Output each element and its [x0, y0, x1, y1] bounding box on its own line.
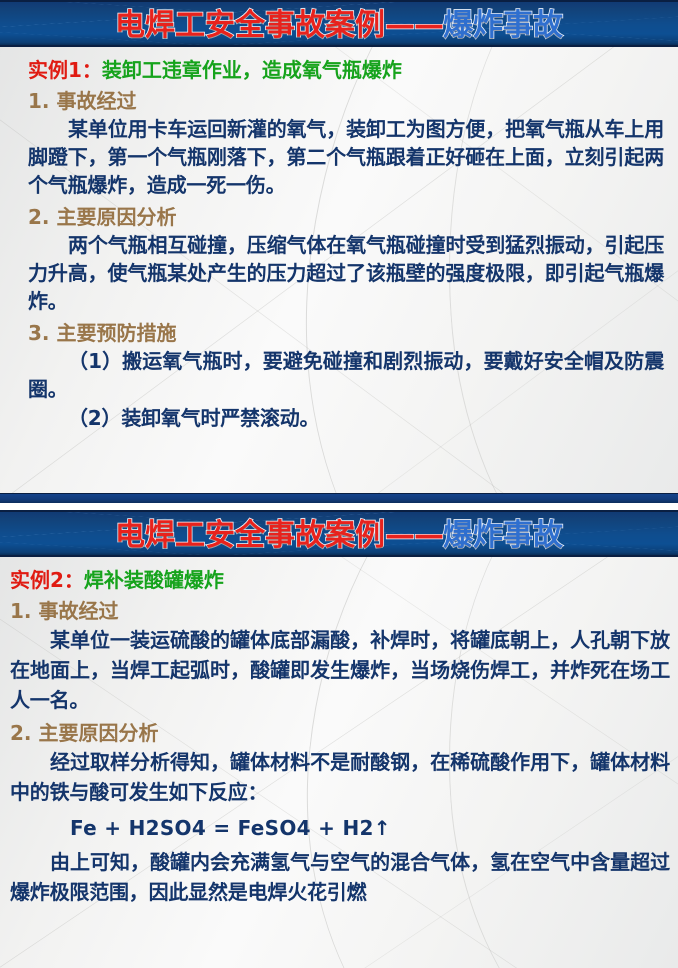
slide-2-title-dash: ——: [385, 521, 443, 551]
slide-1-footer-bar: [0, 493, 678, 503]
slide-deck: 电焊工安全事故案例 —— 爆炸事故 实例1：装卸工违章作业，造成氧气瓶爆炸 1.…: [0, 0, 678, 968]
slide-1-example-text: 装卸工违章作业，造成氧气瓶爆炸: [102, 58, 402, 82]
slide-1-section-3-paragraph-1: （1）搬运氧气瓶时，要避免碰撞和剧烈振动，要戴好安全帽及防震圈。: [28, 347, 664, 403]
slide-1-title-main: 电焊工安全事故案例: [115, 11, 385, 41]
slide-2-chemical-equation: Fe + H2SO4 = FeSO4 + H2↑: [10, 813, 670, 843]
slide-2-section-1-paragraph-1: 某单位一装运硫酸的罐体底部漏酸，补焊时，将罐底朝上，人孔朝下放在地面上，当焊工起…: [10, 625, 670, 715]
slide-1-title-dash: ——: [385, 11, 443, 41]
slide-2-title: 电焊工安全事故案例 —— 爆炸事故: [0, 512, 678, 557]
slide-1-section-1-paragraph-1: 某单位用卡车运回新灌的氧气，装卸工为图方便，把氧气瓶从车上用脚蹬下，第一个气瓶刚…: [28, 115, 664, 199]
slide-1-title-topic: 爆炸事故: [443, 11, 563, 41]
slide-1: 电焊工安全事故案例 —— 爆炸事故 实例1：装卸工违章作业，造成氧气瓶爆炸 1.…: [0, 0, 678, 503]
slide-1-section-3-paragraph-2: （2）装卸氧气时严禁滚动。: [28, 404, 664, 432]
slide-1-content: 实例1：装卸工违章作业，造成氧气瓶爆炸 1. 事故经过 某单位用卡车运回新灌的氧…: [0, 58, 678, 432]
slide-1-section-2-heading: 2. 主要原因分析: [28, 204, 664, 230]
slide-2-header-band: 电焊工安全事故案例 —— 爆炸事故: [0, 510, 678, 557]
slide-2-section-2-paragraph-2: 由上可知，酸罐内会充满氢气与空气的混合气体，氢在空气中含量超过爆炸极限范围，因此…: [10, 847, 670, 907]
slide-1-section-1-heading: 1. 事故经过: [28, 88, 664, 114]
slide-1-section-2-paragraph-1: 两个气瓶相互碰撞，压缩气体在氧气瓶碰撞时受到猛烈振动，引起压力升高，使气瓶某处产…: [28, 231, 664, 315]
slide-1-header-band: 电焊工安全事故案例 —— 爆炸事故: [0, 0, 678, 47]
slide-1-example-label: 实例1：: [28, 58, 102, 82]
slide-2-section-2-heading: 2. 主要原因分析: [10, 720, 670, 746]
slide-2-section-1-heading: 1. 事故经过: [10, 598, 670, 624]
slide-2-title-main: 电焊工安全事故案例: [115, 521, 385, 551]
slide-2: 电焊工安全事故案例 —— 爆炸事故 实例2：焊补装酸罐爆炸 1. 事故经过 某单…: [0, 510, 678, 968]
slide-2-title-topic: 爆炸事故: [443, 521, 563, 551]
slide-2-example-label: 实例2：: [10, 568, 84, 592]
slide-2-example-text: 焊补装酸罐爆炸: [84, 568, 224, 592]
slide-1-title: 电焊工安全事故案例 —— 爆炸事故: [0, 2, 678, 47]
slide-2-content: 实例2：焊补装酸罐爆炸 1. 事故经过 某单位一装运硫酸的罐体底部漏酸，补焊时，…: [0, 568, 678, 907]
slide-2-section-2-paragraph-1: 经过取样分析得知，罐体材料不是耐酸钢，在稀硫酸作用下，罐体材料中的铁与酸可发生如…: [10, 747, 670, 807]
slide-1-section-3-heading: 3. 主要预防措施: [28, 320, 664, 346]
slide-2-example-line: 实例2：焊补装酸罐爆炸: [10, 568, 670, 593]
slide-1-example-line: 实例1：装卸工违章作业，造成氧气瓶爆炸: [28, 58, 664, 83]
